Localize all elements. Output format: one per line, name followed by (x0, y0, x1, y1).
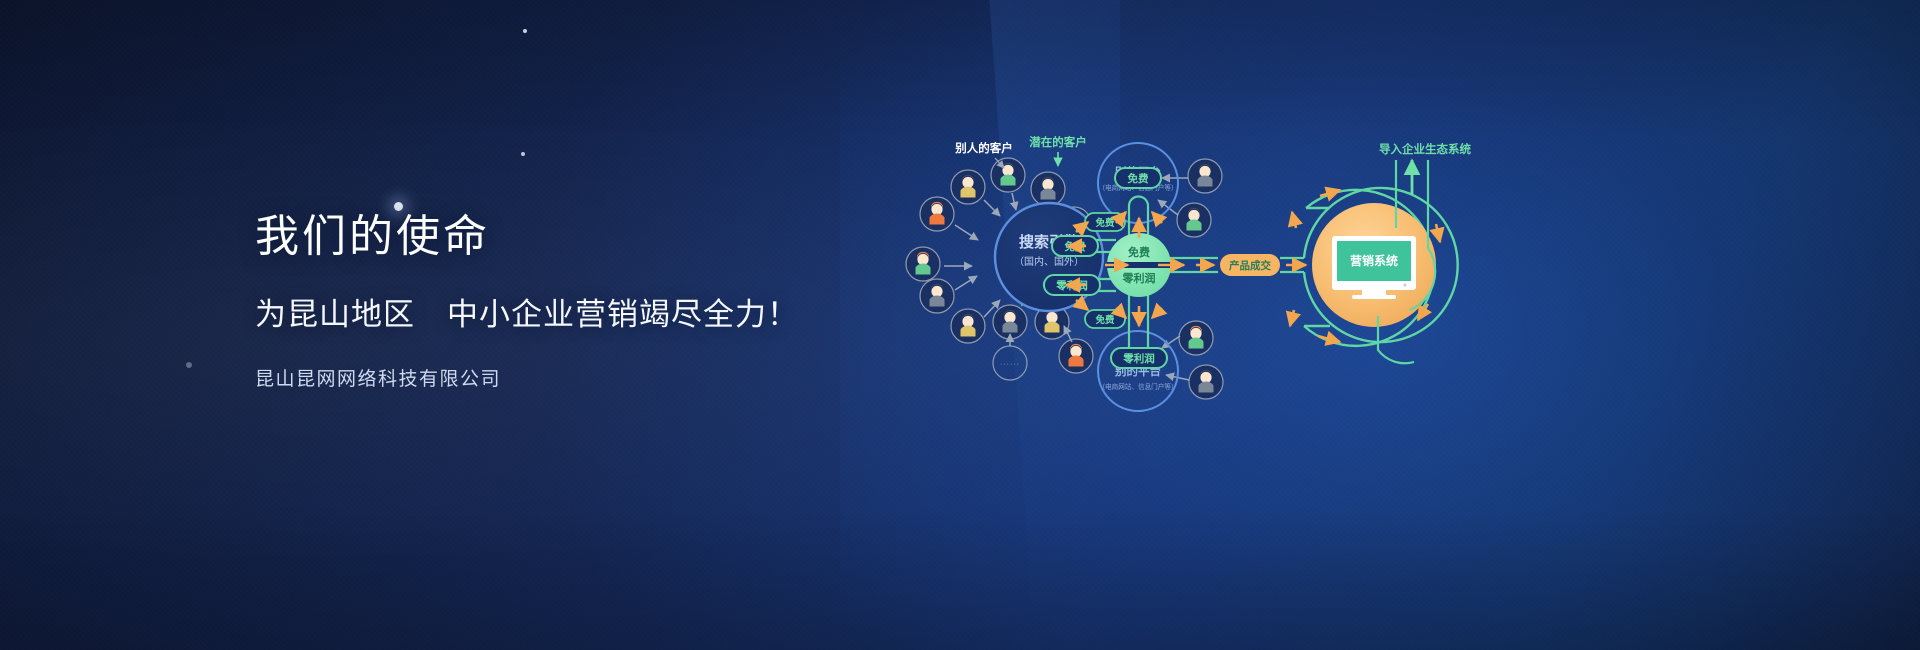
badge-label: 免费 (1128, 172, 1150, 185)
hub-top-label: 免费 (1128, 245, 1150, 259)
avatar (1031, 172, 1065, 206)
avatar (1059, 339, 1093, 373)
more-customers-node: ······ (993, 346, 1027, 380)
particle-dot (523, 29, 527, 33)
avatar (993, 305, 1027, 339)
hero-banner: 我们的使命 为昆山地区 中小企业营销竭尽全力！ 昆山昆网网络科技有限公司 (0, 0, 1920, 650)
node-marketing-system: 营销系统 (1312, 203, 1436, 327)
label-others-customers: 别人的客户 (954, 141, 1013, 155)
avatar (920, 279, 954, 313)
node-title: 营销系统 (1350, 253, 1398, 268)
badge-free-above-hub: 免费 (1085, 213, 1125, 231)
avatar (1177, 203, 1211, 237)
particle-dot (186, 362, 192, 368)
avatar (906, 247, 940, 281)
marketing-ecosystem-diagram: ······ 搜索引擎 （国内、国外） (900, 120, 1560, 450)
badge-zero-profit-bottom: 零利润 (1111, 348, 1167, 368)
avatar (951, 309, 985, 343)
ellipsis-label: ······ (1000, 361, 1020, 368)
avatar (1179, 321, 1213, 355)
avatar (1188, 159, 1222, 193)
particle-dot (394, 202, 403, 211)
badge-deal: 产品成交 (1220, 254, 1280, 276)
badge-label: 产品成交 (1229, 259, 1271, 272)
avatar (1189, 365, 1223, 399)
hub-bottom-label: 零利润 (1122, 271, 1156, 285)
badge-label: 零利润 (1122, 352, 1155, 365)
label-import-ecosystem: 导入企业生态系统 (1379, 142, 1471, 156)
avatar (951, 170, 985, 204)
badge-free-top: 免费 (1115, 168, 1161, 188)
label-potential-customers: 潜在的客户 (1029, 135, 1087, 149)
avatar (920, 197, 954, 231)
node-platform-bottom: 别的平台 （电商网站、信息门户等） (1098, 331, 1178, 411)
particle-dot (521, 152, 525, 156)
badge-label: 免费 (1095, 314, 1115, 326)
badge-label: 免费 (1095, 217, 1115, 229)
avatar (991, 158, 1025, 192)
node-subtitle: （电商网站、信息门户等） (1098, 382, 1177, 391)
